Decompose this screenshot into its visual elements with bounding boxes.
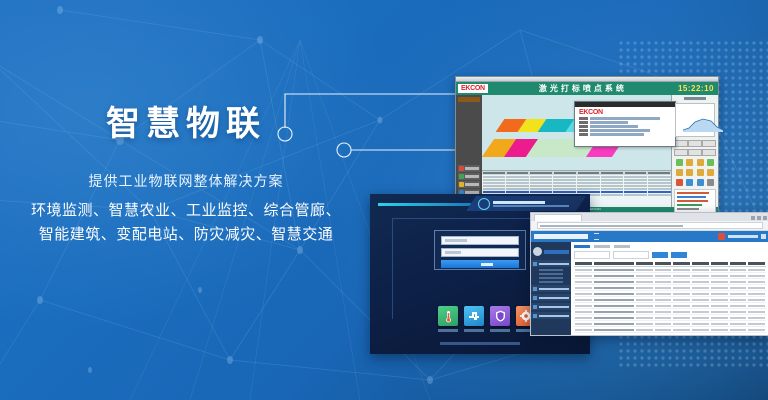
panel-button[interactable] <box>688 140 702 147</box>
trend-chart <box>675 103 715 137</box>
scada-panel[interactable] <box>671 95 718 207</box>
printer-icon[interactable] <box>707 179 714 186</box>
thermometer-icon <box>443 310 454 323</box>
connector-circle-lower <box>337 143 351 157</box>
iot-promo-banner: 智慧物联 提供工业物联网整体解决方案 环境监测、智慧农业、工业监控、综合管廊、 … <box>0 0 768 400</box>
report-icon <box>533 305 537 309</box>
panel-icon-row[interactable] <box>674 159 716 166</box>
username-input[interactable] <box>441 236 519 245</box>
shield-icon <box>495 310 506 322</box>
tab-list[interactable] <box>574 245 590 248</box>
dialog-info-row <box>579 129 675 132</box>
panel-button[interactable] <box>674 140 688 147</box>
app-logo <box>534 234 588 239</box>
sidebar-item-reports[interactable] <box>531 303 571 310</box>
search-button[interactable] <box>652 252 668 258</box>
dialog-brand: EKCON <box>579 109 675 116</box>
status-icon[interactable] <box>697 169 704 176</box>
portal-header <box>370 194 590 214</box>
scada-sidebar-button[interactable] <box>458 165 480 172</box>
scada-brand: EKCON <box>458 84 488 93</box>
dialog-info-row <box>579 125 675 128</box>
tab-add-device[interactable] <box>594 245 610 248</box>
status-icon[interactable] <box>676 159 683 166</box>
avatar <box>533 247 542 256</box>
window-controls[interactable] <box>751 216 767 220</box>
status-icon[interactable] <box>707 169 714 176</box>
sidebar-item-devices[interactable] <box>531 260 571 267</box>
module-tiles[interactable] <box>438 306 536 332</box>
page-1[interactable] <box>718 335 726 336</box>
login-form[interactable] <box>434 230 526 270</box>
panel-button-row[interactable] <box>674 140 716 147</box>
tile-environment[interactable] <box>438 306 458 332</box>
search-input[interactable] <box>574 251 610 259</box>
menu-toggle-icon[interactable] <box>594 233 599 240</box>
portal-title-badge <box>466 196 586 211</box>
scada-sidebar-button[interactable] <box>458 181 480 188</box>
content-tabs[interactable] <box>574 245 766 248</box>
avatar[interactable] <box>718 233 725 240</box>
sidebar-item-analysis[interactable] <box>531 294 571 301</box>
scada-sidebar[interactable] <box>456 95 482 207</box>
ekcon-info-dialog[interactable]: EKCON <box>574 101 676 147</box>
reset-button[interactable] <box>671 252 687 258</box>
sidebar-subitem[interactable] <box>539 281 563 283</box>
minimize-icon[interactable] <box>751 216 755 220</box>
tab-import-device[interactable] <box>614 245 630 248</box>
status-icon[interactable] <box>707 159 714 166</box>
sidebar-user <box>531 245 571 258</box>
scada-status-tag <box>458 97 480 102</box>
dialog-info-row <box>579 121 675 124</box>
sidebar-subitem[interactable] <box>539 269 563 271</box>
scada-window[interactable]: EKCON 激光打标喷点系统 15:22:10 <box>455 76 719 211</box>
panel-button[interactable] <box>702 149 716 156</box>
table-footer <box>574 335 766 336</box>
portal-header-title <box>493 201 545 204</box>
alarm-icon <box>533 287 537 291</box>
sidebar-nav[interactable] <box>531 242 571 336</box>
sidebar-item-settings[interactable] <box>531 312 571 319</box>
scada-title: 激光打标喷点系统 <box>488 83 678 94</box>
browser-tabbar[interactable] <box>531 213 768 221</box>
address-input[interactable] <box>537 222 763 229</box>
page-4[interactable] <box>748 335 756 336</box>
status-icon[interactable] <box>686 159 693 166</box>
app-username <box>728 235 758 238</box>
scada-clock: 15:22:10 <box>678 84 714 93</box>
status-icon[interactable] <box>697 179 704 186</box>
status-icon[interactable] <box>686 169 693 176</box>
portal-accent-bar <box>378 203 484 206</box>
chart-icon <box>533 296 537 300</box>
status-icon[interactable] <box>697 159 704 166</box>
gear-icon <box>533 314 537 318</box>
page-next[interactable] <box>758 335 766 336</box>
sidebar-username <box>544 250 569 254</box>
panel-button[interactable] <box>688 149 702 156</box>
logout-icon[interactable] <box>761 234 766 239</box>
scada-sidebar-button[interactable] <box>458 173 480 180</box>
scada-canvas[interactable]: EKCON <box>482 95 671 207</box>
sidebar-item-alarms[interactable] <box>531 285 571 292</box>
device-icon <box>533 262 537 266</box>
browser-tab-active[interactable] <box>534 214 582 221</box>
panel-icon-row[interactable] <box>674 169 716 176</box>
scada-body: EKCON <box>456 95 718 207</box>
panel-button-row[interactable] <box>674 149 716 156</box>
close-icon[interactable] <box>763 216 767 220</box>
app-header-right[interactable] <box>718 233 766 240</box>
app-header <box>531 231 768 242</box>
password-input[interactable] <box>441 248 519 257</box>
app-body <box>531 242 768 336</box>
sidebar-subitem[interactable] <box>539 277 563 279</box>
page-2[interactable] <box>728 335 736 336</box>
scada-titlebar: EKCON 激光打标喷点系统 15:22:10 <box>456 82 718 95</box>
chart-title <box>684 97 706 100</box>
content-area <box>571 242 768 336</box>
dialog-info-row <box>579 117 675 120</box>
sidebar-subitem[interactable] <box>539 273 563 275</box>
browser-window[interactable] <box>530 212 768 336</box>
login-button[interactable] <box>441 260 519 268</box>
dialog-titlebar <box>575 102 675 107</box>
banner-line-2: 智能建筑、变配电站、防灾减灾、智慧交通 <box>0 223 372 247</box>
tile-security[interactable] <box>490 306 510 332</box>
pagination[interactable] <box>708 335 766 336</box>
dialog-info-row <box>579 133 675 136</box>
panel-button[interactable] <box>674 149 688 156</box>
status-icon[interactable] <box>676 169 683 176</box>
filter-bar[interactable] <box>574 251 766 259</box>
maximize-icon[interactable] <box>757 216 761 220</box>
connector-circle-upper <box>278 127 292 141</box>
tile-pipeline[interactable] <box>464 306 484 332</box>
page-prev[interactable] <box>708 335 716 336</box>
table-row[interactable] <box>574 327 766 333</box>
gear-icon <box>478 198 490 210</box>
status-icon[interactable] <box>676 179 683 186</box>
code-input[interactable] <box>613 251 649 259</box>
screenshot-cluster: EKCON 激光打标喷点系统 15:22:10 <box>370 62 768 362</box>
page-3[interactable] <box>738 335 746 336</box>
browser-urlbar[interactable] <box>531 221 768 231</box>
pipe-icon <box>468 310 480 322</box>
panel-icon-row[interactable] <box>674 179 716 186</box>
panel-button[interactable] <box>702 140 716 147</box>
status-icon[interactable] <box>686 179 693 186</box>
portal-header-subtitle <box>493 205 569 207</box>
